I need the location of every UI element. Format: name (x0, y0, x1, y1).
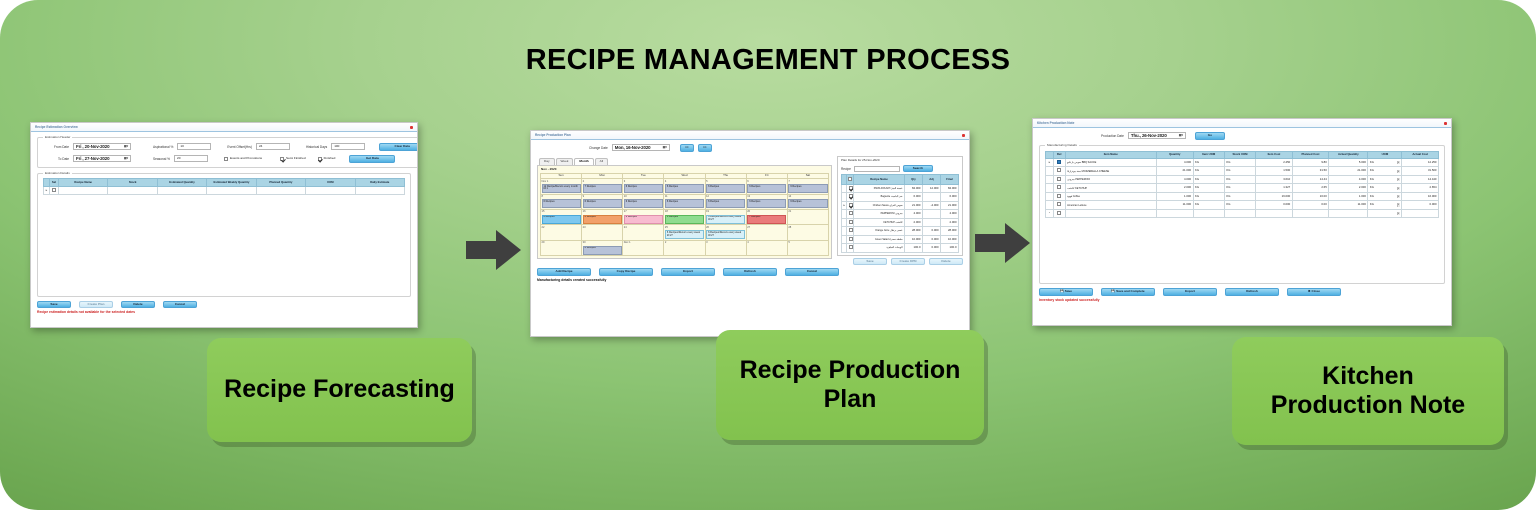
button-icon: 💾 (1111, 289, 1115, 293)
cell-actual-quantity[interactable]: 5.000 (1329, 158, 1368, 166)
calendar-event[interactable]: 6 Recipes (624, 199, 663, 208)
cell-actual-cost[interactable]: 14.440 (1402, 175, 1439, 183)
get-data-button[interactable]: Get Data (349, 155, 395, 163)
calendar-day-number: 13 (747, 195, 750, 198)
next-period-button[interactable]: >> (698, 144, 712, 152)
close-icon[interactable] (410, 126, 413, 129)
calendar-event[interactable]: 7 Recipes (583, 184, 622, 193)
cell-adj[interactable]: 0.000 (923, 244, 941, 252)
calendar-event[interactable]: 7 Recipes (747, 215, 786, 224)
calendar-event[interactable]: 6 Recipes (706, 184, 745, 193)
cell-final[interactable]: 21.000 (941, 201, 959, 209)
cell-planned-cost[interactable]: 9.80 (1292, 158, 1329, 166)
cell-item-cost[interactable]: 16.000 (1256, 192, 1293, 200)
change-date-input[interactable]: Mon, 16-Nov-2020 ▦▾ (612, 144, 670, 151)
to-date-label: To Date (43, 157, 69, 161)
cell-adj[interactable]: -4.000 (923, 201, 941, 209)
cell-final[interactable]: 84.000 (941, 184, 959, 192)
uom-select[interactable]: KG▾ (1370, 203, 1400, 206)
calendar: Nov - 2020 SunMonTueWedThuFriSat Nov 112… (537, 165, 832, 259)
cell-recipe-name[interactable] (59, 186, 108, 194)
cell-item-cost[interactable]: 3.610 (1256, 175, 1293, 183)
table-header-row: DelItem NameQuantityItem UOMStock UOMIte… (1046, 151, 1439, 158)
chevron-down-icon[interactable]: ▾ (1397, 195, 1400, 198)
calendar-event[interactable]: 6 Recipes/Recurs every week till 27 (706, 215, 745, 224)
calendar-event[interactable]: 12 Recipe/Recurs every month till 1 (542, 184, 581, 193)
chevron-down-icon[interactable]: ▾ (1397, 187, 1400, 190)
cell-stock[interactable] (108, 186, 157, 194)
cell-uom-dropdown[interactable]: KG▾ (1368, 175, 1402, 183)
plan-row[interactable]: ▸صوص الفراخ Chicken Sauce21.000-4.00021.… (842, 201, 959, 209)
calendar-event[interactable]: 6 Recipes (747, 184, 786, 193)
row-select-checkbox[interactable] (847, 227, 854, 235)
cell-item-name[interactable]: كاتشب KETCHUP (1065, 184, 1156, 192)
cell-item-cost[interactable]: 1.327 (1256, 184, 1293, 192)
manufacturing-details-legend: Manufacturing Details (1045, 144, 1079, 148)
historical-days-input[interactable]: 100 (331, 143, 365, 150)
cell-qty[interactable]: 2.000 (905, 218, 923, 226)
cancel-button[interactable]: Cancel (163, 301, 197, 309)
calendar-event[interactable]: 6 Recipes (542, 215, 581, 224)
calendar-day-cell[interactable]: 126 Recipes (705, 194, 746, 209)
delete-button[interactable]: Delete (121, 301, 155, 309)
calendar-day-cell[interactable]: 36 Recipes (623, 179, 664, 194)
cell-planned-cost[interactable]: 14.44 (1292, 175, 1329, 183)
row-select-checkbox[interactable] (847, 244, 854, 252)
calendar-event[interactable]: 6 Recipes (665, 199, 704, 208)
calendar-day-number: Nov 1 (542, 180, 549, 183)
close-icon[interactable] (1444, 122, 1447, 125)
cell-adj[interactable]: 0.000 (923, 227, 941, 235)
cell-item-name[interactable]: جبنة موتزاريلا MOZZERELLA CHEESE (1065, 167, 1156, 175)
finished-checkbox[interactable]: Finished (318, 157, 336, 161)
table-row[interactable]: كاتشب KETCHUP2.000KGKG1.3272.652.000KG▾2… (1046, 184, 1439, 192)
calendar-icon[interactable]: ▦▾ (119, 145, 128, 149)
cell-quantity[interactable]: 4.000 (1156, 158, 1193, 166)
cell-item-uom[interactable]: KG (1193, 184, 1224, 192)
cell-actual-cost[interactable]: 2.654 (1402, 184, 1439, 192)
calendar-day-cell[interactable]: Nov 112 Recipe/Recurs every month till 1 (541, 179, 582, 194)
cell-estimated-quantity[interactable] (157, 186, 206, 194)
calendar-day-cell[interactable]: 23 (582, 225, 623, 240)
cell-actual-cost[interactable] (1402, 209, 1439, 217)
arrow-step-1-to-2 (466, 228, 522, 277)
status-message-1: Recipe estimation details not available … (37, 310, 411, 314)
copy-recipe-button[interactable]: Copy Recipe (599, 268, 653, 276)
row-delete-checkbox[interactable] (1053, 167, 1065, 175)
cell-actual-cost[interactable]: 12.250 (1402, 158, 1439, 166)
uom-select[interactable]: KG▾ (1370, 169, 1400, 172)
export-button[interactable]: Export (1163, 288, 1217, 296)
checkbox-checked-icon (849, 194, 853, 198)
cell-recipe-name[interactable]: عجينة البيتزا PIZZA DOUGH (854, 184, 905, 192)
cell-item-name[interactable]: صوص باربكيو BBQ SAUCE (1065, 158, 1156, 166)
estimation-header-legend: Estimation Header (43, 136, 72, 140)
calendar-day-cell[interactable]: 76 Recipes (787, 179, 828, 194)
cell-stock-uom[interactable]: KG (1224, 184, 1255, 192)
cell-qty[interactable]: 100.0 (905, 244, 923, 252)
checkbox-checked-icon (849, 186, 853, 190)
cell-recipe-name[interactable]: عصير برتقال Orange Juice (854, 227, 905, 235)
uom-select[interactable]: KG▾ (1370, 178, 1400, 181)
calendar-event[interactable]: 6 Recipes (788, 199, 827, 208)
calendar-day-cell[interactable]: 196 Recipes/Recurs every week till 27 (705, 209, 746, 224)
calendar-day-cell[interactable]: 136 Recipes (746, 194, 787, 209)
change-date-value: Mon, 16-Nov-2020 (615, 145, 651, 151)
search-button[interactable]: Search (903, 165, 933, 173)
calendar-day-cell[interactable]: 106 Recipes (623, 194, 664, 209)
table-header-recipe-name: Recipe Name (59, 179, 108, 186)
cell-item-name[interactable]: قهوة Coffee (1065, 192, 1156, 200)
calendar-day-cell[interactable]: 256 Recipes/Recurs every week till 27 (664, 225, 705, 240)
export-button[interactable]: Export (661, 268, 715, 276)
table-row[interactable]: ▸ (44, 186, 405, 194)
cell-uom-dropdown[interactable]: ▾ (1368, 209, 1402, 217)
calendar-day-cell[interactable]: 29 (541, 240, 582, 255)
calendar-day-cell[interactable]: 56 Recipes (705, 179, 746, 194)
cell-quantity[interactable]: 1.000 (1156, 192, 1193, 200)
calendar-event[interactable]: 6 Recipes (706, 199, 745, 208)
cell-planned-cost[interactable]: 0.00 (1292, 201, 1329, 209)
calendar-day-cell[interactable]: Dec 1 (623, 240, 664, 255)
cell-empty[interactable] (1065, 209, 1156, 217)
checkbox-icon (1057, 202, 1061, 206)
calendar-day-cell[interactable]: 96 Recipes (582, 194, 623, 209)
row-delete-checkbox[interactable] (1053, 209, 1065, 217)
calendar-day-cell[interactable]: 266 Recipes/Recurs every week till 27 (705, 225, 746, 240)
row-select-checkbox[interactable] (847, 218, 854, 226)
plan-row[interactable]: عصير برتقال Orange Juice28.0000.00028.00… (842, 227, 959, 235)
cell-adj[interactable]: 12.000 (923, 184, 941, 192)
calendar-day-number: 30 (583, 241, 586, 244)
calendar-day-cell[interactable]: 27 (746, 225, 787, 240)
calendar-day-cell[interactable]: 86 Recipes (541, 194, 582, 209)
tab-day[interactable]: Day (539, 158, 555, 165)
calendar-day-cell[interactable]: 28 (787, 225, 828, 240)
chevron-down-icon[interactable]: ▾ (1397, 161, 1400, 164)
table-row[interactable]: ▸صوص باربكيو BBQ SAUCE4.000KGKG2.4509.80… (1046, 158, 1439, 166)
calendar-event[interactable]: 6 Recipes (624, 184, 663, 193)
cell-uom-dropdown[interactable]: KG▾ (1368, 192, 1402, 200)
calendar-event[interactable]: 6 Recipes/Recurs every week till 27 (665, 230, 704, 239)
calendar-day-cell[interactable]: 146 Recipes (787, 194, 828, 209)
calendar-day-number: 8 (542, 195, 543, 198)
plan-row[interactable]: سلطة خضراء Green Salad10.0000.00010.000 (842, 235, 959, 243)
calendar-day-cell[interactable]: 5 (787, 240, 828, 255)
cell-quantity[interactable]: 2.000 (1156, 184, 1193, 192)
calendar-event[interactable]: 6 Recipes (665, 215, 704, 224)
cell-item-uom[interactable]: KG (1193, 175, 1224, 183)
footer-button-bar-3: 💾Save💾Save and CompleteExportRefresh✖Clo… (1039, 288, 1445, 296)
plan-row[interactable]: خبز الباجيت Baguette6.0006.000 (842, 193, 959, 201)
calendar-title: Nov - 2020 (541, 168, 829, 172)
uom-select[interactable]: KG▾ (1370, 195, 1400, 198)
cancel-button[interactable]: Cancel (785, 268, 839, 276)
cell-actual-quantity[interactable]: 2.000 (1329, 184, 1368, 192)
window-title-2: Recipe Production Plan (535, 133, 571, 137)
row-indicator (1046, 192, 1054, 200)
row-select-checkbox[interactable] (847, 210, 854, 218)
cell-adj[interactable] (923, 218, 941, 226)
cell-uom-dropdown[interactable]: KG▾ (1368, 201, 1402, 209)
cell-stock-uom[interactable]: KG (1224, 175, 1255, 183)
calendar-event[interactable]: 6 Recipes/Recurs every week till 27 (706, 230, 745, 239)
calendar-day-cell[interactable]: 166 Recipes (582, 209, 623, 224)
cell-empty[interactable] (1193, 209, 1224, 217)
cell-final[interactable]: 10.000 (941, 235, 959, 243)
cell-quantity[interactable]: 21.000 (1156, 167, 1193, 175)
calendar-event[interactable]: 6 Recipes (747, 199, 786, 208)
chevron-down-icon[interactable]: ▾ (1397, 170, 1400, 173)
cell-final[interactable]: 100.0 (941, 244, 959, 252)
clear-data-button[interactable]: Clear Data (379, 143, 418, 151)
cell-qty[interactable]: 28.000 (905, 227, 923, 235)
calendar-day-cell[interactable]: 46 Recipes (664, 179, 705, 194)
row-indicator (1046, 167, 1054, 175)
save-button[interactable]: 💾Save (1039, 288, 1093, 296)
calendar-icon[interactable]: ▦▾ (119, 157, 128, 161)
cell-uom-dropdown[interactable]: KG▾ (1368, 184, 1402, 192)
uom-select[interactable]: KG▾ (1370, 161, 1400, 164)
row-delete-checkbox[interactable] (1053, 184, 1065, 192)
row-delete-checkbox[interactable] (1053, 192, 1065, 200)
table-header-row: SelRecipe NameStockEstimated QuantityEst… (44, 179, 405, 186)
cell-recipe-name[interactable]: خبز الباجيت Baguette (854, 193, 905, 201)
row-select-checkbox[interactable] (847, 193, 854, 201)
calendar-event[interactable]: 6 Recipes (583, 199, 622, 208)
calendar-day-cell[interactable]: 4 (746, 240, 787, 255)
tab-week[interactable]: Week (556, 158, 574, 165)
table-header-estimated-weekly-quantity: Estimated Weekly Quantity (207, 179, 256, 186)
table-new-row[interactable]: *▾ (1046, 209, 1439, 217)
cell-quantity[interactable]: 11.000 (1156, 201, 1193, 209)
calendar-day-cell[interactable]: 66 Recipes (746, 179, 787, 194)
tab-all[interactable]: All (595, 158, 608, 165)
plan-row[interactable]: بيبروني PEPPERONI4.0004.000 (842, 210, 959, 218)
cell-recipe-name[interactable]: صوص الفراخ Chicken Sauce (854, 201, 905, 209)
cell-quantity[interactable]: 4.000 (1156, 175, 1193, 183)
cell-item-uom[interactable]: KG (1193, 201, 1224, 209)
cell-item-name[interactable]: American Lettuce (1065, 201, 1156, 209)
row-select-checkbox[interactable] (50, 186, 59, 194)
table-row[interactable]: بيبروني PEPPERONI4.000KGKG3.61014.444.00… (1046, 175, 1439, 183)
table-header-stock-uom: Stock UOM (1224, 151, 1255, 158)
checkbox-icon (1057, 194, 1061, 198)
plan-row[interactable]: كاتشب KETCHUP2.0002.000 (842, 218, 959, 226)
cell-qty[interactable]: 84.000 (905, 184, 923, 192)
calendar-day-cell[interactable]: 21 (787, 209, 828, 224)
refresh-button[interactable]: Refresh (723, 268, 777, 276)
calendar-day-number: 19 (706, 210, 709, 213)
status-message-2: Manufacturing details created successful… (537, 278, 963, 282)
cell-item-cost[interactable]: 1.500 (1256, 167, 1293, 175)
recipe-label: Recipe (841, 167, 851, 171)
row-delete-checkbox[interactable] (1053, 175, 1065, 183)
uom-select[interactable]: ▾ (1370, 212, 1400, 215)
table-header-item-cost: Item Cost (1256, 151, 1293, 158)
calendar-icon[interactable]: ▦▾ (658, 146, 667, 150)
row-select-checkbox[interactable] (847, 201, 854, 209)
cell-qty[interactable]: 10.000 (905, 235, 923, 243)
delete-button[interactable]: Delete (929, 258, 963, 266)
cell-actual-cost[interactable]: 16.000 (1402, 192, 1439, 200)
close-button[interactable]: ✖Close (1287, 288, 1341, 296)
calendar-day-number: 9 (583, 195, 584, 198)
calendar-day-cell[interactable]: 116 Recipes (664, 194, 705, 209)
estimation-header-group: Estimation Header From Date Fri , 20-Nov… (37, 136, 418, 168)
table-row[interactable]: American Lettuce11.000KGKG0.0000.0011.00… (1046, 201, 1439, 209)
calendar-day-cell[interactable]: 186 Recipes (664, 209, 705, 224)
cell-stock-uom[interactable]: KG (1224, 201, 1255, 209)
checkbox-checked-icon (280, 157, 284, 161)
cell-stock-uom[interactable]: KG (1224, 167, 1255, 175)
cell-item-cost[interactable]: 2.450 (1256, 158, 1293, 166)
event-offset-value: 24 (259, 145, 262, 149)
row-select-checkbox[interactable] (847, 235, 854, 243)
cell-item-cost[interactable]: 0.000 (1256, 201, 1293, 209)
cell-recipe-name[interactable]: سلطة خضراء Green Salad (854, 235, 905, 243)
calendar-event[interactable]: 6 Recipes (583, 215, 622, 224)
cell-actual-cost[interactable]: 0.000 (1402, 201, 1439, 209)
recipe-search-input[interactable] (854, 166, 900, 172)
aspirational-input[interactable]: 10 (177, 143, 211, 150)
create-plan-button[interactable]: Create Plan (79, 301, 113, 309)
save-button[interactable]: Save (37, 301, 71, 309)
go-button[interactable]: Go (1195, 132, 1225, 140)
cell-empty[interactable] (1224, 209, 1255, 217)
row-delete-checkbox[interactable] (1053, 201, 1065, 209)
event-offset-input[interactable]: 24 (256, 143, 290, 150)
cell-final[interactable]: 2.000 (941, 218, 959, 226)
cell-daily-estimate[interactable] (355, 186, 404, 194)
window-titlebar-3: Kitchen Production Note (1033, 119, 1451, 128)
cell-planned-cost[interactable]: 2.65 (1292, 184, 1329, 192)
production-date-input[interactable]: Thu., 26-Nov-2020 ▦▾ (1128, 132, 1186, 139)
calendar-day-number: 21 (788, 210, 791, 213)
cell-recipe-name[interactable]: بيبروني PEPPERONI (854, 210, 905, 218)
plan-row[interactable]: الوجبات الجاهزة100.00.000100.0 (842, 244, 959, 252)
calendar-event[interactable]: 6 Recipes (583, 246, 622, 255)
cell-uom-dropdown[interactable]: KG▾ (1368, 167, 1402, 175)
cell-actual-cost[interactable]: 31.500 (1402, 167, 1439, 175)
cell-planned-cost[interactable]: 31.50 (1292, 167, 1329, 175)
calendar-day-number: 26 (706, 226, 709, 229)
cell-empty[interactable] (1156, 209, 1193, 217)
calendar-week-row: 29306 RecipesDec 12345 (541, 240, 829, 255)
calendar-day-cell[interactable]: 3 (705, 240, 746, 255)
tab-month[interactable]: Month (574, 158, 593, 165)
cell-planned-cost[interactable]: 16.00 (1292, 192, 1329, 200)
cell-adj[interactable] (923, 193, 941, 201)
seasonal-input[interactable]: 20 (174, 155, 208, 162)
cell-recipe-name[interactable]: كاتشب KETCHUP (854, 218, 905, 226)
cell-empty[interactable] (1256, 209, 1293, 217)
cell-recipe-name[interactable]: الوجبات الجاهزة (854, 244, 905, 252)
calendar-day-cell[interactable]: 207 Recipes (746, 209, 787, 224)
close-icon[interactable] (962, 134, 965, 137)
create-kpn-button[interactable]: Create KPN (891, 258, 925, 266)
cell-actual-quantity[interactable]: 21.000 (1329, 167, 1368, 175)
calendar-icon[interactable]: ▦▾ (1174, 134, 1183, 138)
cell-final[interactable]: 6.000 (941, 193, 959, 201)
add-recipe-button[interactable]: Add Recipe (537, 268, 591, 276)
calendar-week-row: 222324256 Recipes/Recurs every week till… (541, 225, 829, 240)
semi-finished-checkbox[interactable]: Semi Finished (280, 157, 306, 161)
prev-period-button[interactable]: << (680, 144, 694, 152)
cell-qty[interactable]: 4.000 (905, 210, 923, 218)
cell-uom-dropdown[interactable]: KG▾ (1368, 158, 1402, 166)
table-row[interactable]: قهوة Coffee1.000KGKG16.00016.001.000KG▾1… (1046, 192, 1439, 200)
cell-stock-uom[interactable]: KG (1224, 158, 1255, 166)
from-date-input[interactable]: Fri , 20-Nov-2020 ▦▾ (73, 143, 131, 150)
semi-finished-label: Semi Finished (286, 157, 306, 161)
cell-stock-uom[interactable]: KG (1224, 192, 1255, 200)
table-row[interactable]: جبنة موتزاريلا MOZZERELLA CHEESE21.000KG… (1046, 167, 1439, 175)
arrow-step-2-to-3 (975, 221, 1031, 270)
uom-select[interactable]: KG▾ (1370, 186, 1400, 189)
refresh-button[interactable]: Refresh (1225, 288, 1279, 296)
cell-item-uom[interactable]: KG (1193, 167, 1224, 175)
checkbox-icon (1057, 177, 1061, 181)
cell-final[interactable]: 28.000 (941, 227, 959, 235)
plan-header-row: Recipe NameQtyAdjFinal (842, 175, 959, 184)
cell-empty[interactable] (1292, 209, 1329, 217)
cell-adj[interactable] (923, 210, 941, 218)
calendar-day-number: 7 (788, 180, 789, 183)
chevron-down-icon[interactable]: ▾ (1397, 178, 1400, 181)
calendar-day-cell[interactable]: 176 Recipes (623, 209, 664, 224)
calendar-event[interactable]: 6 Recipes (542, 199, 581, 208)
table-header-actual-quantity: Actual Quantity (1329, 151, 1368, 158)
save-button[interactable]: Save (853, 258, 887, 266)
cell-actual-quantity[interactable] (1329, 209, 1368, 217)
cell-final[interactable]: 4.000 (941, 210, 959, 218)
row-select-checkbox[interactable] (847, 184, 854, 192)
cell-actual-quantity[interactable]: 1.000 (1329, 192, 1368, 200)
cell-actual-quantity[interactable]: 11.000 (1329, 201, 1368, 209)
calendar-day-cell[interactable]: 306 Recipes (582, 240, 623, 255)
save-and-complete-button[interactable]: 💾Save and Complete (1101, 288, 1155, 296)
cell-qty[interactable]: 21.000 (905, 201, 923, 209)
calendar-day-cell[interactable]: 156 Recipes (541, 209, 582, 224)
calendar-day-cell[interactable]: 22 (541, 225, 582, 240)
cell-qty[interactable]: 6.000 (905, 193, 923, 201)
chevron-down-icon[interactable]: ▾ (1397, 203, 1400, 206)
table-header-actual-cost: Actual Cost (1402, 151, 1439, 158)
cell-planned-quantity[interactable] (256, 186, 305, 194)
cell-item-name[interactable]: بيبروني PEPPERONI (1065, 175, 1156, 183)
calendar-event[interactable]: 6 Recipes (624, 215, 663, 224)
calendar-day-cell[interactable]: 2 (664, 240, 705, 255)
to-date-input[interactable]: Fri , 27-Nov-2020 ▦▾ (73, 155, 131, 162)
cell-uom[interactable] (306, 186, 355, 194)
plan-row[interactable]: عجينة البيتزا PIZZA DOUGH84.00012.00084.… (842, 184, 959, 192)
calendar-event[interactable]: 6 Recipes (788, 184, 827, 193)
calendar-week-row: 156 Recipes166 Recipes176 Recipes186 Rec… (541, 209, 829, 224)
cell-estimated-weekly-quantity[interactable] (207, 186, 256, 194)
cell-actual-quantity[interactable]: 4.000 (1329, 175, 1368, 183)
calendar-event[interactable]: 6 Recipes (665, 184, 704, 193)
cell-item-uom[interactable]: KG (1193, 192, 1224, 200)
calendar-day-cell[interactable]: 24 (623, 225, 664, 240)
cell-item-uom[interactable]: KG (1193, 158, 1224, 166)
calendar-day-cell[interactable]: 27 Recipes (582, 179, 623, 194)
chevron-down-icon[interactable]: ▾ (1397, 212, 1400, 215)
cell-adj[interactable]: 0.000 (923, 235, 941, 243)
row-delete-checkbox[interactable] (1053, 158, 1065, 166)
plan-header-qty: Qty (905, 175, 923, 184)
events-promotions-checkbox[interactable]: Events and Promotions (224, 157, 262, 161)
